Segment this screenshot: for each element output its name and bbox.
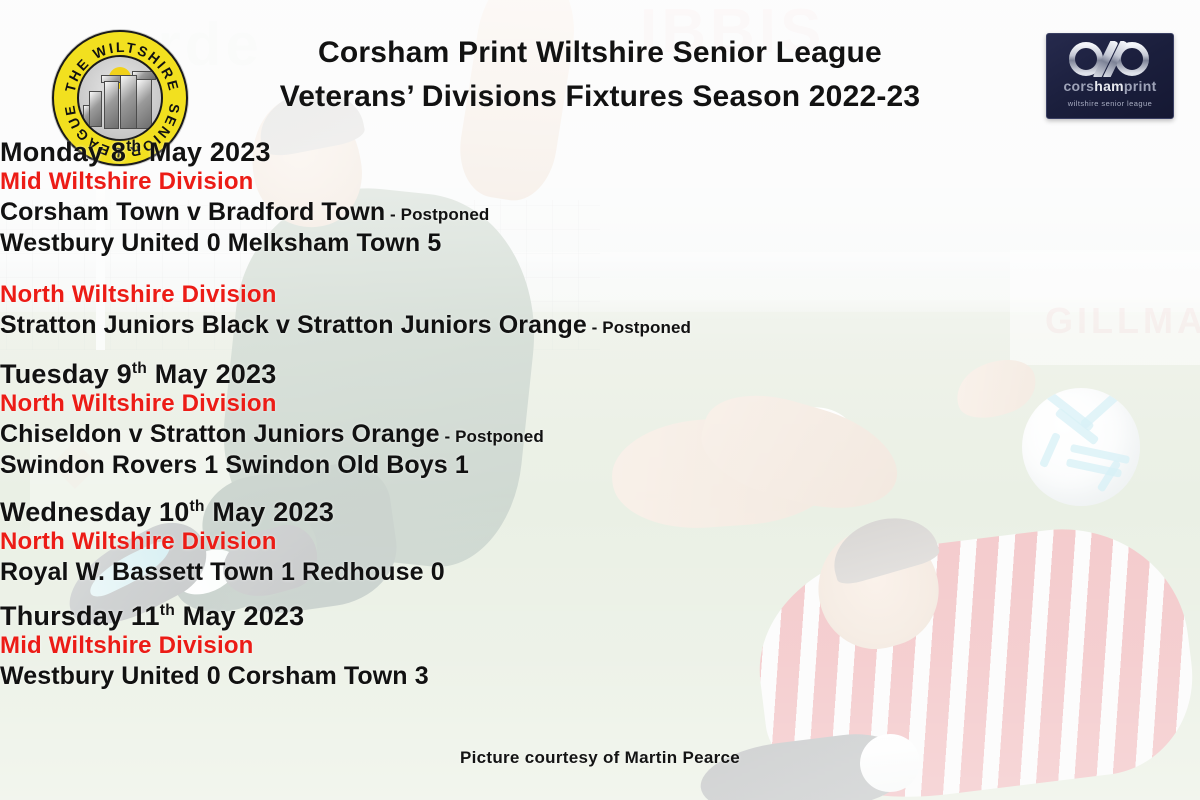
- fixture-status-note: - Postponed: [385, 205, 489, 224]
- fixture-day-block: Thursday 11th May 2023 Mid Wiltshire Div…: [0, 602, 1200, 691]
- poster-content: THE WILTSHIRE SENIOR LEAGUE: [0, 0, 1200, 800]
- fixture-date: Wednesday 10th May 2023: [0, 498, 1200, 527]
- fixture-status-note: - Postponed: [440, 427, 544, 446]
- fixture-text: Westbury United 0 Melksham Town 5: [0, 229, 441, 257]
- fixture-date-text: Thursday 11: [0, 601, 160, 631]
- fixture-date-suffix: th: [126, 138, 141, 155]
- fixture-date-suffix: th: [160, 602, 175, 619]
- fixture-day-block: North Wiltshire Division Stratton Junior…: [0, 280, 1200, 339]
- division-heading: Mid Wiltshire Division: [0, 633, 1200, 660]
- page-title-line-1: Corsham Print Wiltshire Senior League: [0, 36, 1200, 70]
- division-heading: North Wiltshire Division: [0, 529, 1200, 556]
- fixture-line: Westbury United 0 Melksham Town 5: [0, 229, 1200, 258]
- division-heading: Mid Wiltshire Division: [0, 169, 1200, 196]
- photo-credit: Picture courtesy of Martin Pearce: [0, 748, 1200, 768]
- fixture-date-rest: May 2023: [205, 497, 334, 527]
- fixture-line: Royal W. Bassett Town 1 Redhouse 0: [0, 558, 1200, 587]
- fixture-date: Thursday 11th May 2023: [0, 602, 1200, 631]
- fixture-date-text: Tuesday 9: [0, 359, 132, 389]
- fixture-status-note: - Postponed: [587, 318, 691, 337]
- fixture-line: Chiseldon v Stratton Juniors Orange - Po…: [0, 420, 1200, 449]
- fixture-line: Corsham Town v Bradford Town - Postponed: [0, 198, 1200, 227]
- fixture-date: Tuesday 9th May 2023: [0, 360, 1200, 389]
- fixture-day-block: Monday 8th May 2023 Mid Wiltshire Divisi…: [0, 138, 1200, 257]
- fixture-line: Westbury United 0 Corsham Town 3: [0, 662, 1200, 691]
- fixture-date-suffix: th: [132, 360, 147, 377]
- fixture-day-block: Wednesday 10th May 2023 North Wiltshire …: [0, 498, 1200, 587]
- fixture-text: Swindon Rovers 1 Swindon Old Boys 1: [0, 451, 469, 479]
- fixture-text: Chiseldon v Stratton Juniors Orange: [0, 420, 440, 448]
- division-heading: North Wiltshire Division: [0, 391, 1200, 418]
- fixture-text: Stratton Juniors Black v Stratton Junior…: [0, 311, 587, 339]
- fixture-text: Royal W. Bassett Town 1 Redhouse 0: [0, 558, 445, 586]
- fixture-day-block: Tuesday 9th May 2023 North Wiltshire Div…: [0, 360, 1200, 479]
- fixture-date-rest: May 2023: [175, 601, 304, 631]
- fixture-text: Westbury United 0 Corsham Town 3: [0, 662, 429, 690]
- fixture-date-rest: May 2023: [147, 359, 276, 389]
- fixture-date: Monday 8th May 2023: [0, 138, 1200, 167]
- fixture-line: Stratton Juniors Black v Stratton Junior…: [0, 311, 1200, 340]
- page-title-line-2: Veterans’ Divisions Fixtures Season 2022…: [0, 80, 1200, 114]
- fixtures-poster: erde IBBIS GILLMAN: [0, 0, 1200, 800]
- fixture-date-suffix: th: [190, 498, 205, 515]
- fixture-date-rest: May 2023: [141, 137, 270, 167]
- fixture-date-text: Wednesday 10: [0, 497, 190, 527]
- division-heading: North Wiltshire Division: [0, 282, 1200, 309]
- fixture-date-text: Monday 8: [0, 137, 126, 167]
- fixture-line: Swindon Rovers 1 Swindon Old Boys 1: [0, 451, 1200, 480]
- fixture-text: Corsham Town v Bradford Town: [0, 198, 385, 226]
